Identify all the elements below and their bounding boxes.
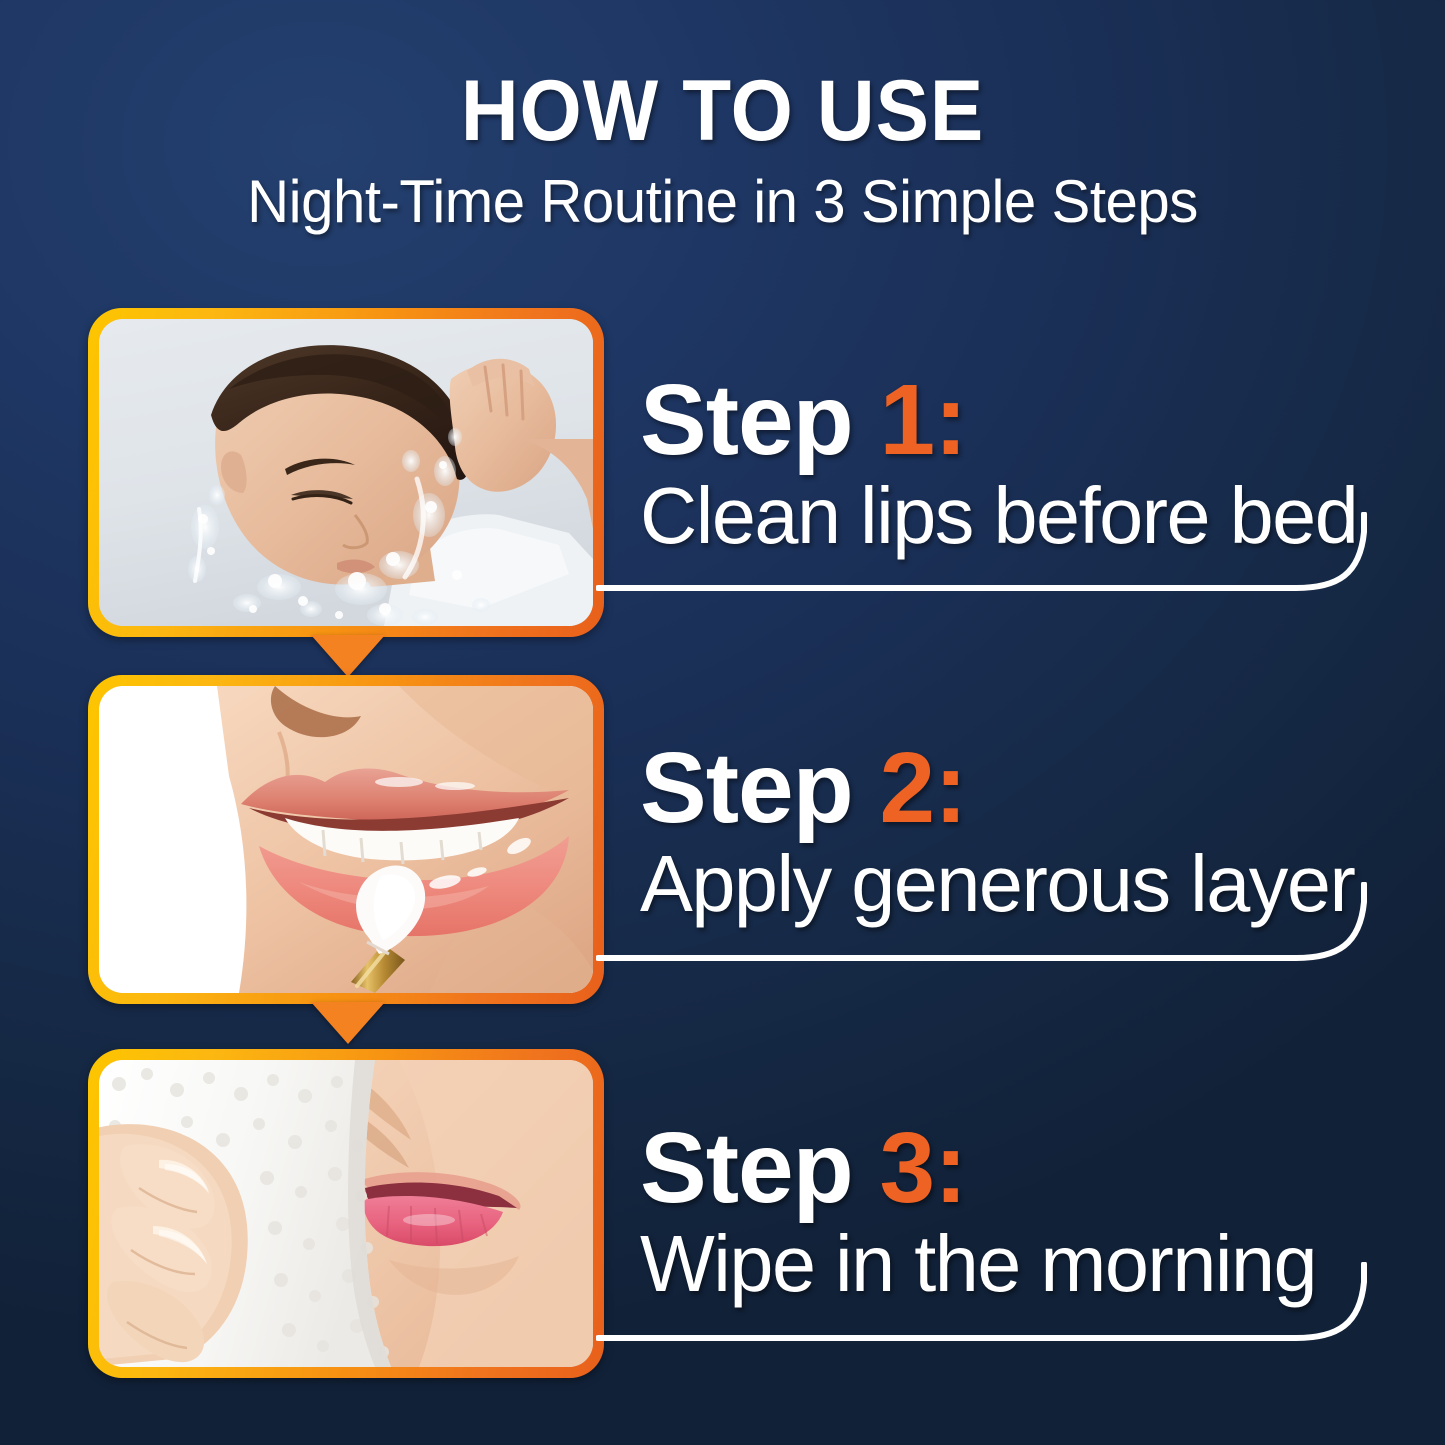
step-2-underline [596, 882, 1386, 962]
step-2-heading: Step 2: [640, 740, 1362, 836]
step-3-number: 3: [880, 1112, 967, 1224]
step-1-underline [596, 512, 1386, 592]
step-1-photo-frame [88, 308, 604, 637]
page-subtitle: Night-Time Routine in 3 Simple Steps [22, 172, 1424, 232]
lip-applicator-illustration [99, 686, 593, 993]
step-1-number: 1: [880, 364, 967, 476]
wiping-lips-with-towel-illustration [99, 1060, 593, 1367]
step-2-photo [99, 686, 593, 993]
step-2-number: 2: [880, 732, 967, 844]
step-1-down-arrow-icon [311, 635, 385, 677]
poster-header: HOW TO USE Night-Time Routine in 3 Simpl… [0, 68, 1445, 232]
how-to-use-poster: HOW TO USE Night-Time Routine in 3 Simpl… [0, 0, 1445, 1445]
step-3-label: Step [640, 1112, 853, 1224]
step-3-photo [99, 1060, 593, 1367]
step-2-photo-frame [88, 675, 604, 1004]
step-1-label: Step [640, 364, 853, 476]
page-title: HOW TO USE [51, 68, 1395, 154]
step-3-photo-frame [88, 1049, 604, 1378]
woman-splashing-water-illustration [99, 319, 593, 626]
step-1-heading: Step 1: [640, 372, 1365, 468]
step-2-label: Step [640, 732, 853, 844]
underline-curve-icon [596, 512, 1386, 592]
step-2-down-arrow-icon [311, 1002, 385, 1044]
step-3-underline [596, 1262, 1386, 1342]
underline-curve-icon [596, 882, 1386, 962]
step-3-heading: Step 3: [640, 1120, 1323, 1216]
step-1-photo [99, 319, 593, 626]
underline-curve-icon [596, 1262, 1386, 1342]
